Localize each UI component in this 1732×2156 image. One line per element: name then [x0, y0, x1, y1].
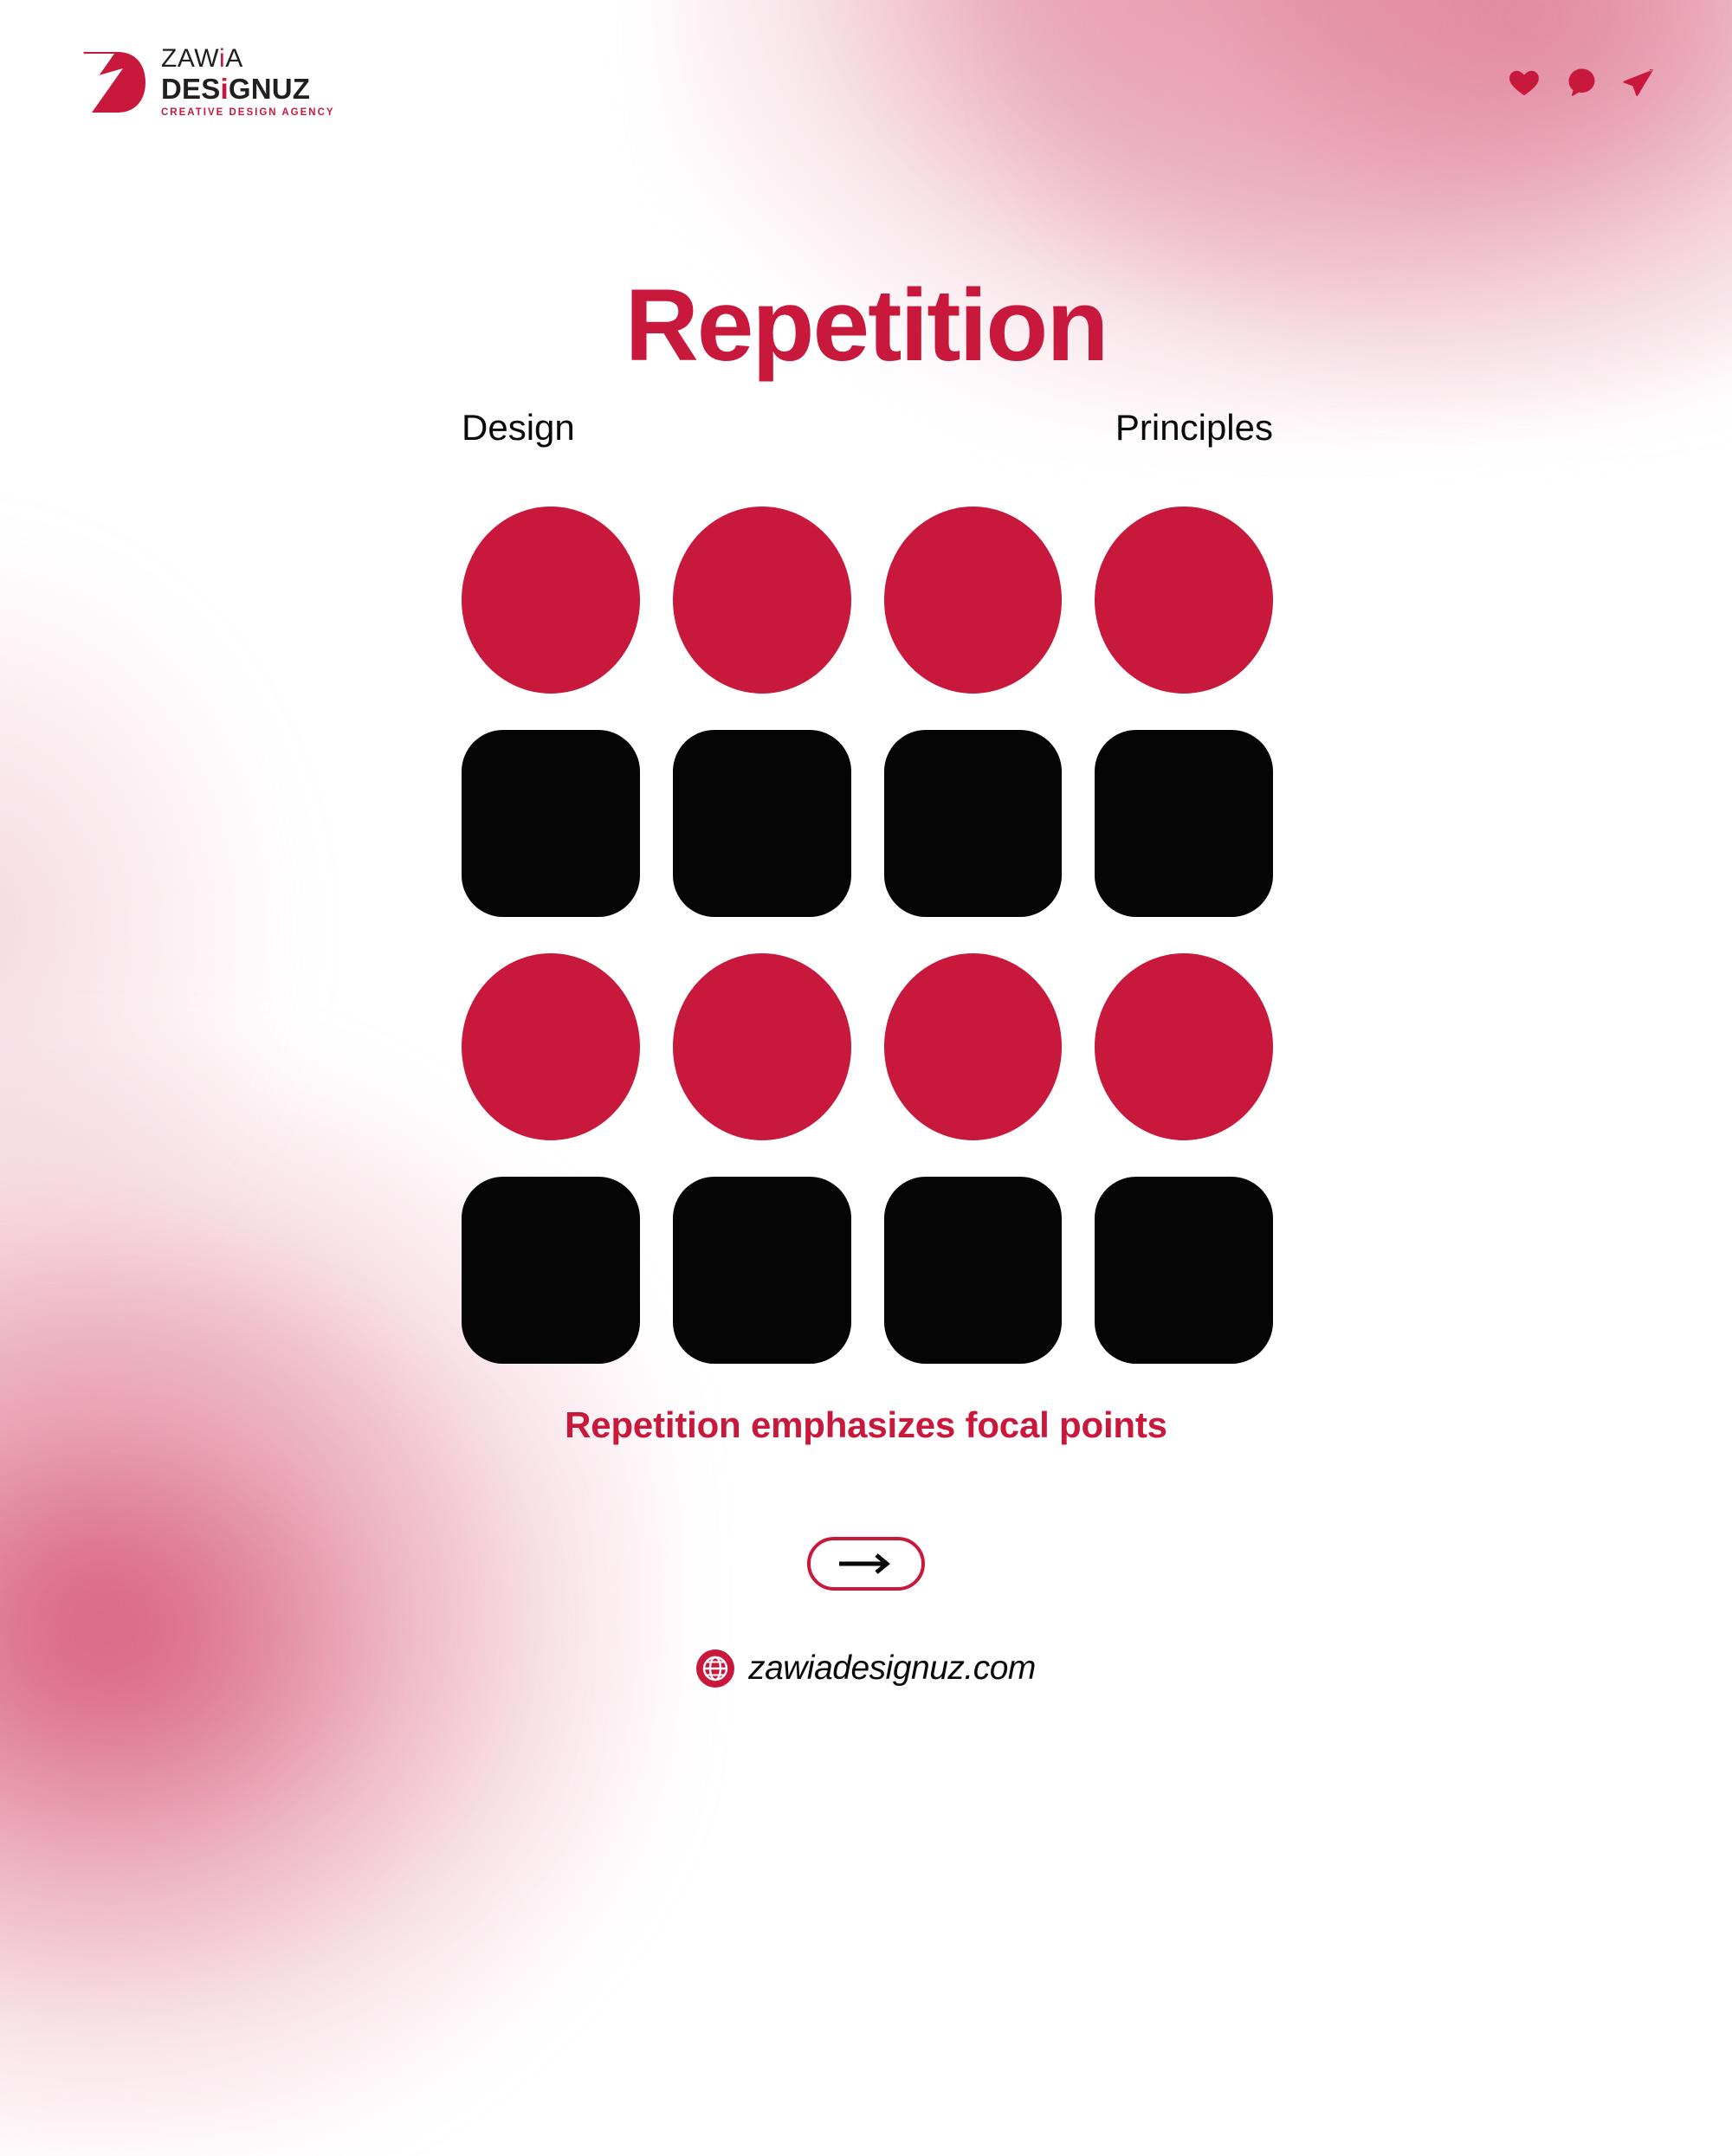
repetition-grid: [462, 507, 1273, 1364]
grid-cell-square: [673, 1177, 851, 1364]
subtitle-row: Design Principles: [462, 407, 1273, 449]
send-icon[interactable]: [1621, 65, 1656, 100]
page-title: Repetition: [0, 267, 1732, 384]
brand-name-top: ZAWiA: [161, 46, 335, 72]
grid-cell-square: [1095, 730, 1273, 917]
heart-icon[interactable]: [1507, 65, 1541, 100]
arrow-right-icon: [837, 1552, 895, 1575]
grid-cell-circle: [884, 507, 1063, 694]
header: ZAWiA DESiGNUZ CREATIVE DESIGN AGENCY: [0, 0, 1732, 165]
post-content: ZAWiA DESiGNUZ CREATIVE DESIGN AGENCY: [0, 0, 1732, 1732]
social-actions: [1507, 65, 1656, 100]
brand-logo-text: ZAWiA DESiGNUZ CREATIVE DESIGN AGENCY: [161, 46, 335, 119]
comment-icon[interactable]: [1564, 65, 1599, 100]
grid-cell-square: [462, 730, 640, 917]
next-button[interactable]: [807, 1537, 925, 1591]
subtitle-left: Design: [462, 407, 575, 449]
brand-name-bottom: DESiGNUZ: [161, 74, 335, 103]
globe-icon: [696, 1649, 734, 1688]
next-button-container: [0, 1537, 1732, 1591]
grid-cell-square: [673, 730, 851, 917]
footer: zawiadesignuz.com: [0, 1649, 1732, 1688]
grid-cell-square: [1095, 1177, 1273, 1364]
grid-cell-square: [884, 730, 1063, 917]
grid-cell-circle: [1095, 953, 1273, 1140]
grid-cell-circle: [1095, 507, 1273, 694]
brand-tagline: CREATIVE DESIGN AGENCY: [161, 108, 335, 119]
website-url[interactable]: zawiadesignuz.com: [748, 1649, 1036, 1688]
grid-cell-circle: [673, 507, 851, 694]
subtitle-right: Principles: [1115, 407, 1273, 449]
grid-cell-circle: [462, 953, 640, 1140]
caption-text: Repetition emphasizes focal points: [0, 1404, 1732, 1446]
brand-logo[interactable]: ZAWiA DESiGNUZ CREATIVE DESIGN AGENCY: [80, 46, 335, 119]
grid-cell-circle: [462, 507, 640, 694]
grid-cell-circle: [673, 953, 851, 1140]
grid-cell-square: [884, 1177, 1063, 1364]
grid-cell-circle: [884, 953, 1063, 1140]
zawia-d-monogram-icon: [80, 49, 147, 115]
grid-cell-square: [462, 1177, 640, 1364]
